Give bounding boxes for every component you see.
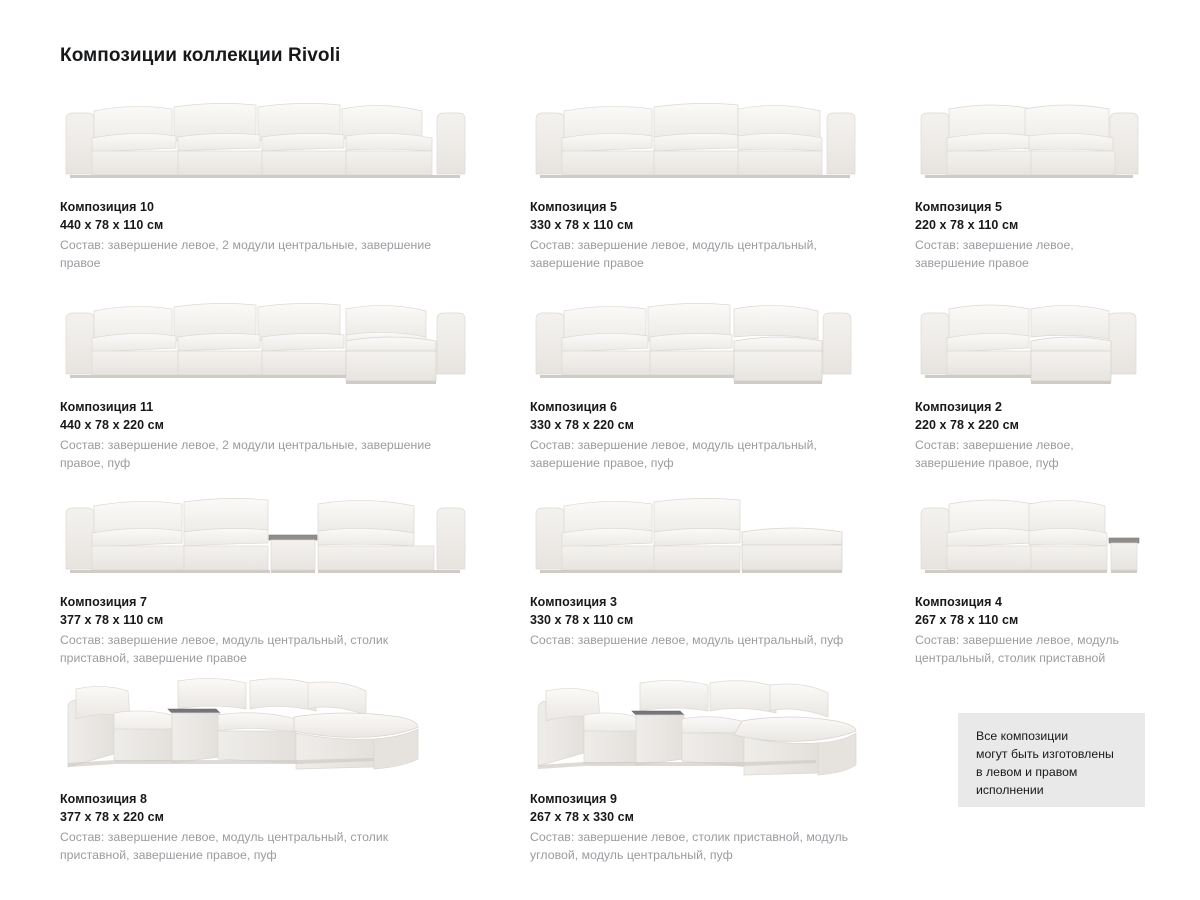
composition-row: Композиция 11 440 x 78 x 220 см Состав: … <box>60 288 1145 483</box>
composition-parts: Состав: завершение левое, модуль централ… <box>60 631 440 667</box>
composition-parts: Состав: завершение левое, 2 модули центр… <box>60 236 440 272</box>
composition-caption: Композиция 2 220 x 78 x 220 см Состав: з… <box>915 398 1145 472</box>
composition-dimensions: 440 x 78 x 110 см <box>60 216 530 234</box>
composition-card-3[interactable]: Композиция 3 330 x 78 x 110 см Состав: з… <box>530 483 915 680</box>
composition-name: Композиция 5 <box>530 198 915 216</box>
composition-dimensions: 377 x 78 x 110 см <box>60 611 530 629</box>
composition-parts: Состав: завершение левое, модуль централ… <box>530 236 885 272</box>
composition-card-4[interactable]: Композиция 4 267 x 78 x 110 см Состав: з… <box>915 483 1145 680</box>
sofa-image-composition-5-330 <box>530 88 915 188</box>
composition-parts: Состав: завершение левое, модуль централ… <box>915 631 1140 667</box>
composition-parts: Состав: завершение левое, модуль централ… <box>530 631 885 649</box>
sofa-image-composition-6 <box>530 288 915 388</box>
sofa-image-composition-5-220 <box>915 88 1145 188</box>
composition-name: Композиция 5 <box>915 198 1145 216</box>
composition-caption: Композиция 4 267 x 78 x 110 см Состав: з… <box>915 593 1145 667</box>
composition-dimensions: 330 x 78 x 110 см <box>530 216 915 234</box>
composition-caption: Композиция 7 377 x 78 x 110 см Состав: з… <box>60 593 530 667</box>
composition-caption: Композиция 8 377 x 78 x 220 см Состав: з… <box>60 790 530 864</box>
composition-dimensions: 377 x 78 x 220 см <box>60 808 530 826</box>
composition-parts: Состав: завершение левое, завершение пра… <box>915 436 1140 472</box>
composition-name: Композиция 11 <box>60 398 530 416</box>
composition-name: Композиция 7 <box>60 593 530 611</box>
composition-card-5-220[interactable]: Композиция 5 220 x 78 x 110 см Состав: з… <box>915 88 1145 288</box>
composition-parts: Состав: завершение левое, завершение пра… <box>915 236 1140 272</box>
composition-card-7[interactable]: Композиция 7 377 x 78 x 110 см Состав: з… <box>60 483 530 680</box>
composition-parts: Состав: завершение левое, модуль централ… <box>60 828 440 864</box>
sofa-image-composition-2 <box>915 288 1145 388</box>
composition-name: Композиция 4 <box>915 593 1145 611</box>
sofa-image-composition-10 <box>60 88 530 188</box>
composition-dimensions: 220 x 78 x 220 см <box>915 416 1145 434</box>
composition-parts: Состав: завершение левое, столик пристав… <box>530 828 885 864</box>
sofa-image-composition-11 <box>60 288 530 388</box>
page-title: Композиции коллекции Rivoli <box>60 45 340 67</box>
composition-dimensions: 267 x 78 x 330 см <box>530 808 915 826</box>
composition-name: Композиция 6 <box>530 398 915 416</box>
composition-card-5-330[interactable]: Композиция 5 330 x 78 x 110 см Состав: з… <box>530 88 915 288</box>
composition-name: Композиция 3 <box>530 593 915 611</box>
composition-card-11[interactable]: Композиция 11 440 x 78 x 220 см Состав: … <box>60 288 530 483</box>
composition-dimensions: 220 x 78 x 110 см <box>915 216 1145 234</box>
sofa-image-composition-3 <box>530 483 915 583</box>
composition-name: Композиция 2 <box>915 398 1145 416</box>
composition-caption: Композиция 6 330 x 78 x 220 см Состав: з… <box>530 398 915 472</box>
composition-dimensions: 330 x 78 x 110 см <box>530 611 915 629</box>
composition-name: Композиция 8 <box>60 790 530 808</box>
sofa-image-composition-8 <box>60 680 530 780</box>
composition-caption: Композиция 11 440 x 78 x 220 см Состав: … <box>60 398 530 472</box>
composition-name: Композиция 9 <box>530 790 915 808</box>
composition-name: Композиция 10 <box>60 198 530 216</box>
composition-dimensions: 267 x 78 x 110 см <box>915 611 1145 629</box>
composition-card-8[interactable]: Композиция 8 377 x 78 x 220 см Состав: з… <box>60 680 530 880</box>
composition-dimensions: 440 x 78 x 220 см <box>60 416 530 434</box>
composition-caption: Композиция 10 440 x 78 x 110 см Состав: … <box>60 198 530 272</box>
composition-row: Композиция 7 377 x 78 x 110 см Состав: з… <box>60 483 1145 680</box>
composition-card-2[interactable]: Композиция 2 220 x 78 x 220 см Состав: з… <box>915 288 1145 483</box>
composition-caption: Композиция 5 330 x 78 x 110 см Состав: з… <box>530 198 915 272</box>
composition-dimensions: 330 x 78 x 220 см <box>530 416 915 434</box>
composition-parts: Состав: завершение левое, 2 модули центр… <box>60 436 440 472</box>
note-box: Все композиции могут быть изготовлены в … <box>958 713 1145 807</box>
composition-caption: Композиция 9 267 x 78 x 330 см Состав: з… <box>530 790 915 864</box>
composition-parts: Состав: завершение левое, модуль централ… <box>530 436 885 472</box>
sofa-image-composition-4 <box>915 483 1145 583</box>
sofa-image-composition-7 <box>60 483 530 583</box>
composition-row: Композиция 10 440 x 78 x 110 см Состав: … <box>60 88 1145 288</box>
composition-card-9[interactable]: Композиция 9 267 x 78 x 330 см Состав: з… <box>530 680 915 880</box>
composition-caption: Композиция 5 220 x 78 x 110 см Состав: з… <box>915 198 1145 272</box>
catalog-page: Композиции коллекции Rivoli <box>0 0 1200 900</box>
composition-card-10[interactable]: Композиция 10 440 x 78 x 110 см Состав: … <box>60 88 530 288</box>
note-text: Все композиции могут быть изготовлены в … <box>976 727 1129 799</box>
composition-card-6[interactable]: Композиция 6 330 x 78 x 220 см Состав: з… <box>530 288 915 483</box>
sofa-image-composition-9 <box>530 680 915 780</box>
composition-caption: Композиция 3 330 x 78 x 110 см Состав: з… <box>530 593 915 649</box>
